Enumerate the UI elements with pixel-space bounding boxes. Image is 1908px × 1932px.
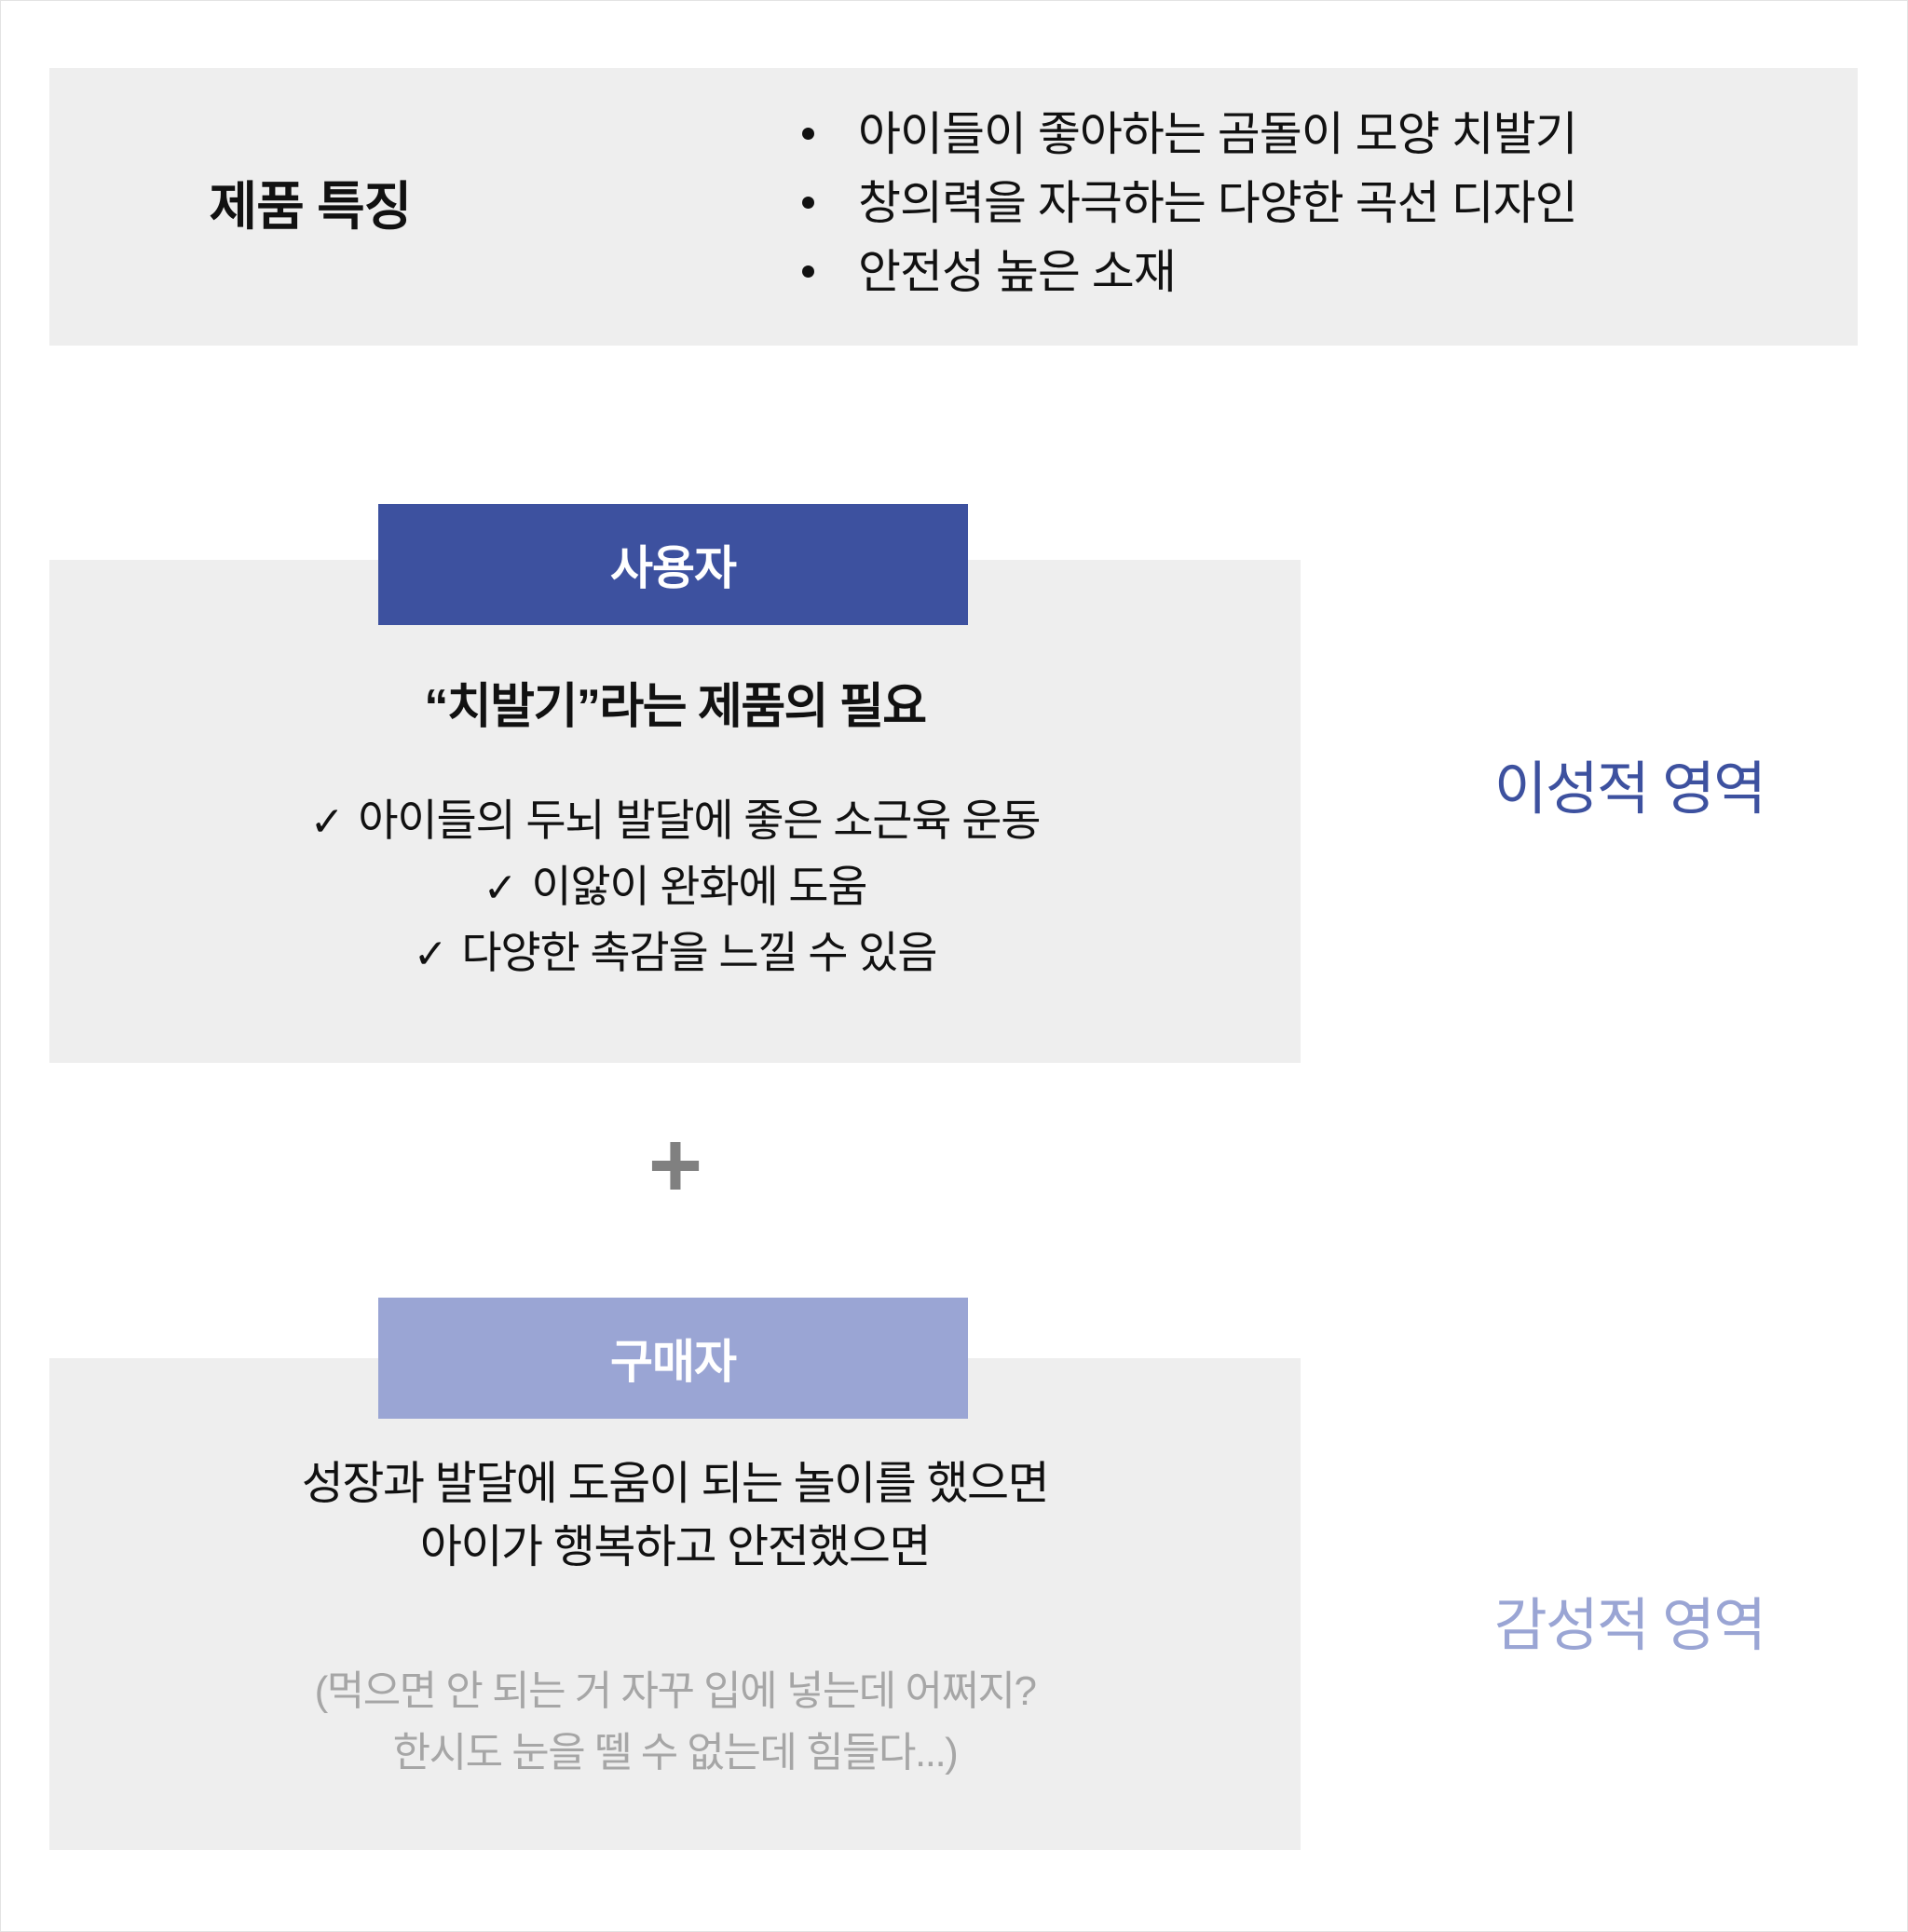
plus-divider-icon: + — [1, 1119, 1350, 1212]
list-item: 아이들이 좋아하는 곰돌이 모양 치발기 — [795, 100, 1819, 169]
buyer-note-group: (먹으면 안 되는 거 자꾸 입에 넣는데 어쩌지? 한시도 눈을 뗄 수 없는… — [49, 1661, 1301, 1784]
feature-text: 창의력을 자극하는 다양한 곡선 디자인 — [858, 177, 1577, 229]
product-features-list: 아이들이 좋아하는 곰돌이 모양 치발기 창의력을 자극하는 다양한 곡선 디자… — [795, 100, 1819, 306]
check-icon: ✓ — [310, 790, 344, 854]
list-item: ✓다양한 촉감을 느낄 수 있음 — [49, 920, 1301, 986]
product-features-panel: 제품 특징 아이들이 좋아하는 곰돌이 모양 치발기 창의력을 자극하는 다양한… — [49, 68, 1858, 346]
list-item: ✓아이들의 두뇌 발달에 좋은 소근육 운동 — [49, 788, 1301, 854]
list-item: 안전성 높은 소재 — [795, 238, 1819, 306]
buyer-statement-group: 성장과 발달에 도움이 되는 놀이를 했으면 아이가 행복하고 안전했으면 — [49, 1452, 1301, 1579]
benefit-text: 아이들의 두뇌 발달에 좋은 소근육 운동 — [358, 796, 1040, 845]
buyer-note-line: (먹으면 안 되는 거 자꾸 입에 넣는데 어쩌지? — [49, 1661, 1301, 1722]
feature-text: 아이들이 좋아하는 곰돌이 모양 치발기 — [858, 108, 1577, 160]
rational-domain-label: 이성적 영역 — [1350, 742, 1908, 825]
bullet-dot-icon — [802, 265, 814, 278]
bullet-dot-icon — [802, 128, 814, 140]
buyer-header-badge: 구매자 — [378, 1298, 968, 1419]
bullet-dot-icon — [802, 197, 814, 209]
feature-text: 안전성 높은 소재 — [858, 246, 1176, 298]
check-icon: ✓ — [484, 856, 517, 920]
user-benefit-list: ✓아이들의 두뇌 발달에 좋은 소근육 운동 ✓이앓이 완화에 도움 ✓다양한 … — [49, 788, 1301, 986]
benefit-text: 이앓이 완화에 도움 — [531, 862, 866, 911]
slide-canvas: 제품 특징 아이들이 좋아하는 곰돌이 모양 치발기 창의력을 자극하는 다양한… — [0, 0, 1908, 1932]
emotional-domain-label: 감성적 영역 — [1350, 1578, 1908, 1662]
user-header-badge: 사용자 — [378, 504, 968, 625]
product-features-title: 제품 특징 — [49, 165, 571, 240]
check-icon: ✓ — [414, 922, 447, 986]
buyer-statement-line: 성장과 발달에 도움이 되는 놀이를 했으면 — [49, 1452, 1301, 1516]
benefit-text: 다양한 촉감을 느낄 수 있음 — [461, 928, 936, 977]
list-item: 창의력을 자극하는 다양한 곡선 디자인 — [795, 169, 1819, 238]
buyer-statement-line: 아이가 행복하고 안전했으면 — [49, 1516, 1301, 1579]
user-panel-heading: “치발기”라는 제품의 필요 — [49, 667, 1301, 737]
list-item: ✓이앓이 완화에 도움 — [49, 854, 1301, 920]
buyer-note-line: 한시도 눈을 뗄 수 없는데 힘들다...) — [49, 1722, 1301, 1784]
